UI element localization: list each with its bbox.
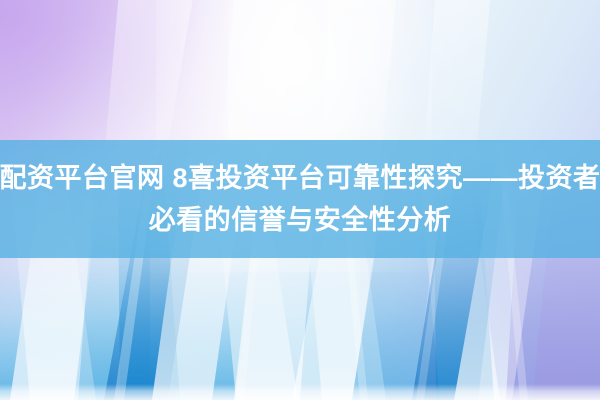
title-line-2: 必看的信誉与安全性分析: [149, 199, 452, 241]
decorative-banner: 配资平台官网 8喜投资平台可靠性探究——投资者 必看的信誉与安全性分析: [0, 0, 600, 400]
title-band: 配资平台官网 8喜投资平台可靠性探究——投资者 必看的信誉与安全性分析: [0, 140, 600, 258]
title-line-1: 配资平台官网 8喜投资平台可靠性探究——投资者: [0, 157, 600, 199]
bottom-fade-strip: [0, 384, 600, 400]
